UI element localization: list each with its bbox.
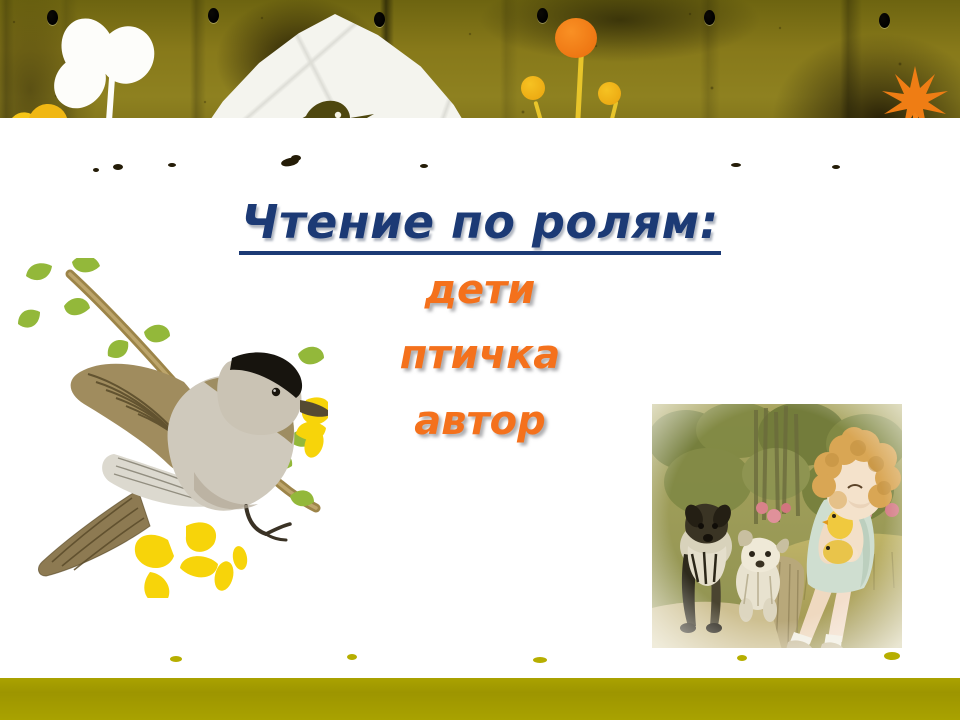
- bottom-decorative-band: [0, 648, 960, 720]
- bolt-hole-icon: [537, 8, 548, 23]
- bolt-hole-icon: [47, 10, 58, 25]
- bottom-torn-edge: [0, 648, 960, 678]
- bolt-hole-icon: [374, 12, 385, 27]
- girl-painting-photo: [652, 404, 902, 650]
- bolt-hole-icon: [879, 13, 890, 28]
- bolt-hole-icon: [208, 8, 219, 23]
- top-decorative-banner: [0, 0, 960, 176]
- banner-torn-edge: [0, 118, 960, 176]
- girl-painting-artwork: [652, 404, 902, 650]
- slide: Чтение по ролям: дети птичка автор: [0, 0, 960, 720]
- page-title: Чтение по ролям:: [239, 196, 720, 255]
- bird: [39, 352, 328, 576]
- title-block: Чтение по ролям:: [0, 196, 960, 255]
- bird-photo: [18, 258, 328, 598]
- bolt-hole-icon: [704, 10, 715, 25]
